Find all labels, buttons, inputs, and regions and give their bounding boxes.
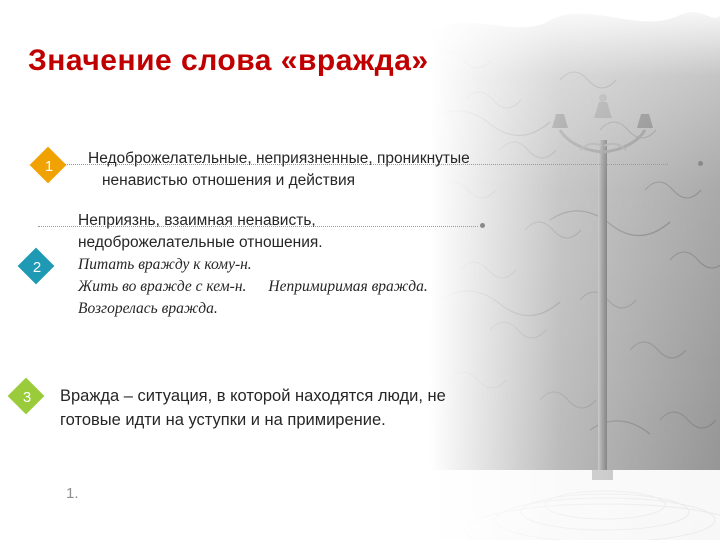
definition-2-example-4: Возгорелась вражда.: [78, 298, 618, 320]
marker-3-number: 3: [8, 378, 46, 416]
definition-2-example-1: Питать вражду к кому-н.: [78, 254, 618, 276]
marker-2: 2: [18, 248, 56, 286]
marker-3: 3: [8, 378, 46, 416]
marker-2-number: 2: [18, 248, 56, 286]
definition-1-line-2: ненавистью отношения и действия: [88, 170, 608, 192]
definition-1-line-1: Недоброжелательные, неприязненные, прони…: [88, 148, 608, 170]
definition-3-line-2: готовые идти на уступки и на примирение.: [60, 409, 630, 433]
definition-3-line-1: Вражда – ситуация, в которой находятся л…: [60, 385, 630, 409]
marker-1: 1: [30, 147, 68, 185]
marker-1-number: 1: [30, 147, 68, 185]
definition-1: Недоброжелательные, неприязненные, прони…: [88, 148, 608, 193]
slide: Значение слова «вражда» 1 2 3 Недоброжел…: [0, 0, 720, 540]
definition-2-line-1: Неприязнь, взаимная ненависть,: [78, 210, 618, 232]
definition-2-example-3: Непримиримая вражда.: [268, 278, 427, 295]
connector-dot-1: [698, 161, 703, 166]
footnote: 1.: [66, 485, 79, 502]
definition-2: Неприязнь, взаимная ненависть, недоброже…: [78, 210, 618, 320]
definition-2-example-2: Жить во вражде с кем-н.: [78, 278, 246, 295]
definition-2-line-2: недоброжелательные отношения.: [78, 232, 618, 254]
definition-3: Вражда – ситуация, в которой находятся л…: [60, 385, 630, 433]
slide-title: Значение слова «вражда»: [28, 44, 688, 79]
